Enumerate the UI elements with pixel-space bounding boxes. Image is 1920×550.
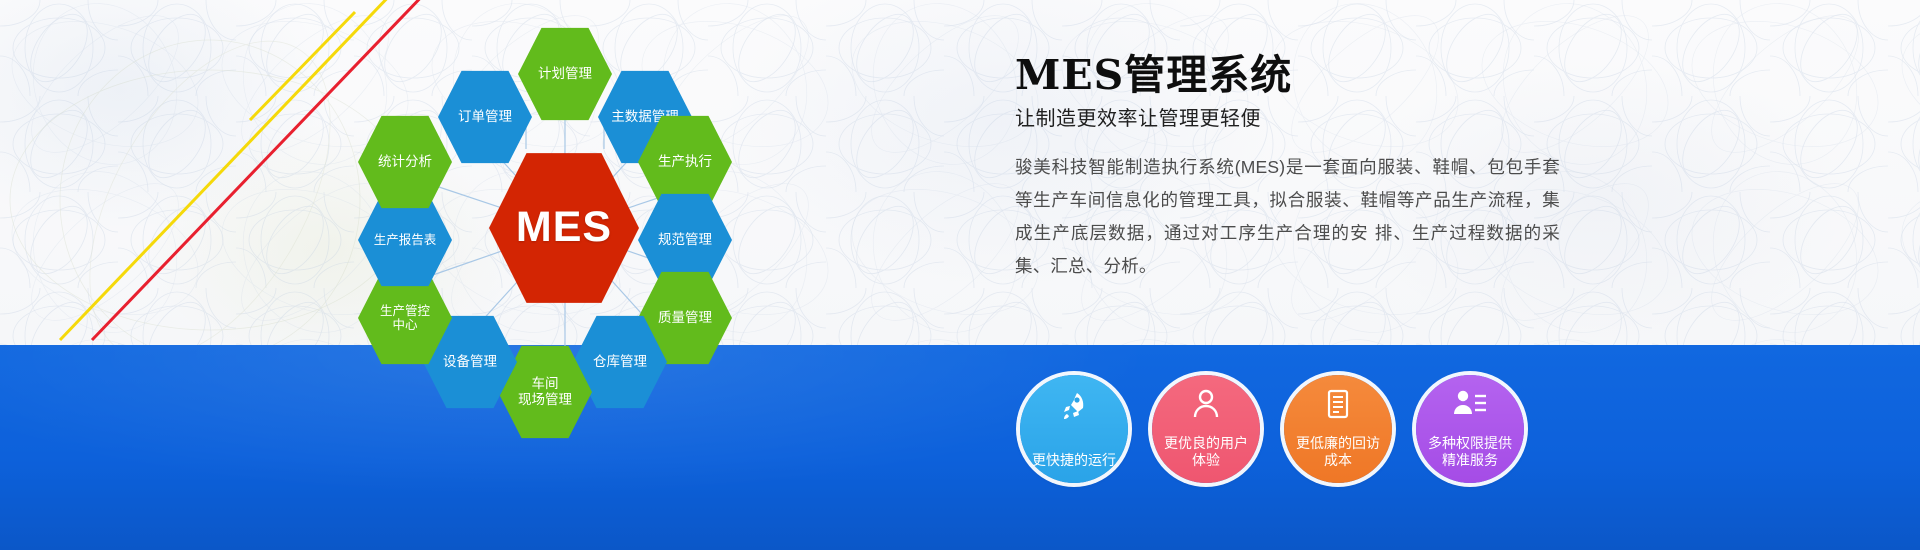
badge-label: 更快捷的运行 [1026,452,1122,483]
mes-hex-diagram: MES 计划管理 主数据管理 生产执行 规范管理 质量管理 仓库管理 车间 现场… [330,14,800,444]
badge-label: 多种权限提供 精准服务 [1422,435,1518,483]
page-title: MES管理系统 [1015,55,1575,96]
badge-faster-operation[interactable]: 更快捷的运行 [1020,375,1128,483]
badge-lower-revisit-cost[interactable]: 更低廉的回访 成本 [1284,375,1392,483]
rocket-icon [1057,388,1091,427]
mes-banner: MES 计划管理 主数据管理 生产执行 规范管理 质量管理 仓库管理 车间 现场… [0,0,1920,550]
badge-label: 更优良的用户 体验 [1158,435,1254,483]
badge-multi-permission-service[interactable]: 多种权限提供 精准服务 [1416,375,1524,483]
description-paragraph: 骏美科技智能制造执行系统(MES)是一套面向服装、鞋帽、包包手套等生产车间信息化… [1015,151,1560,283]
document-icon [1323,388,1353,425]
badge-label: 更低廉的回访 成本 [1290,435,1386,483]
feature-badges: 更快捷的运行 更优良的用户 体验 更低廉的回访 成 [1020,375,1524,483]
page-subtitle: 让制造更效率让管理更轻便 [1015,102,1575,131]
user-icon [1190,388,1222,425]
user-list-icon [1453,388,1487,423]
background-bottom [0,345,1920,550]
badge-better-user-experience[interactable]: 更优良的用户 体验 [1152,375,1260,483]
copy-block: MES管理系统 让制造更效率让管理更轻便 骏美科技智能制造执行系统(MES)是一… [1015,55,1575,283]
